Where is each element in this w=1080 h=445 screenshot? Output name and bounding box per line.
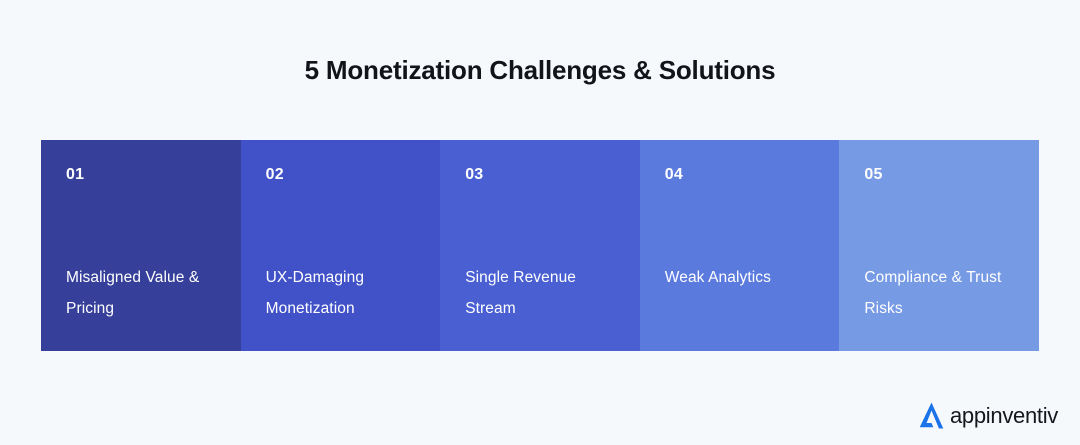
challenge-number: 05	[864, 167, 1015, 183]
challenge-label: Misaligned Value & Pricing	[66, 262, 227, 324]
challenge-column-01: 01 Misaligned Value & Pricing	[41, 140, 241, 351]
challenge-column-02: 02 UX-Damaging Monetization	[241, 140, 441, 351]
challenge-label: Compliance & Trust Risks	[864, 262, 1025, 324]
challenge-label: UX-Damaging Monetization	[266, 262, 427, 324]
brand-name: appinventiv	[950, 405, 1058, 427]
challenges-band: 01 Misaligned Value & Pricing 02 UX-Dama…	[41, 140, 1039, 351]
challenge-number: 04	[665, 167, 816, 183]
brand-logo: appinventiv	[916, 398, 1058, 432]
challenge-number: 02	[266, 167, 417, 183]
title-row: 5 Monetization Challenges & Solutions	[0, 0, 1080, 140]
appinventiv-mark-icon	[916, 400, 947, 431]
challenge-number: 01	[66, 167, 217, 183]
challenge-column-03: 03 Single Revenue Stream	[440, 140, 640, 351]
challenge-column-04: 04 Weak Analytics	[640, 140, 840, 351]
challenge-label: Single Revenue Stream	[465, 262, 626, 324]
infographic-root: 5 Monetization Challenges & Solutions 01…	[0, 0, 1080, 445]
challenge-column-05: 05 Compliance & Trust Risks	[839, 140, 1039, 351]
challenge-label: Weak Analytics	[665, 262, 826, 293]
challenge-number: 03	[465, 167, 616, 183]
page-title: 5 Monetization Challenges & Solutions	[305, 54, 776, 87]
